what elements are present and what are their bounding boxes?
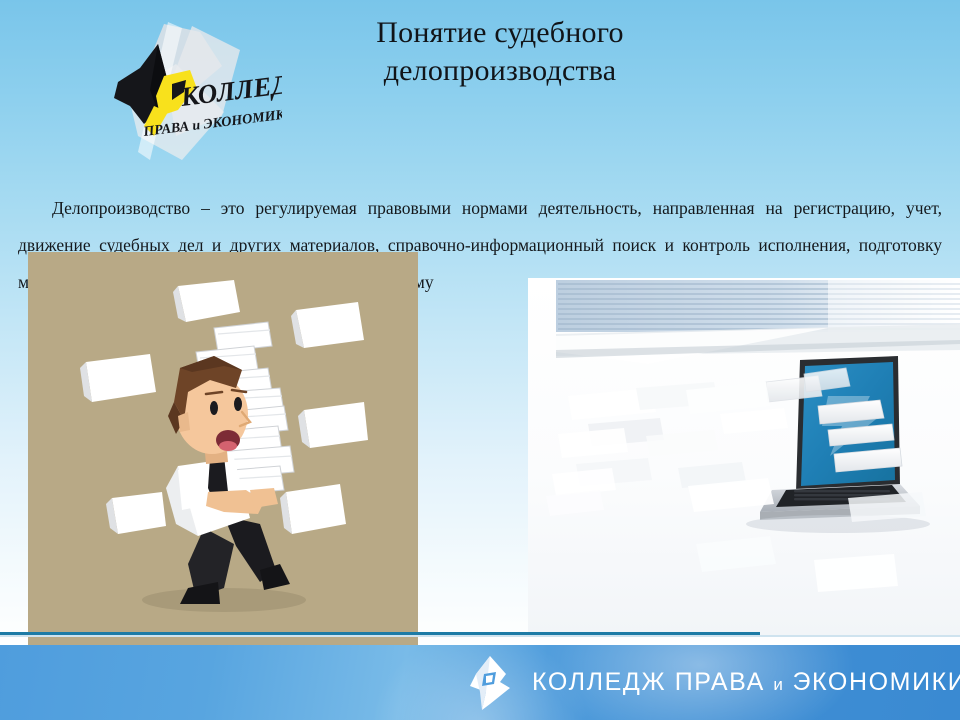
footer-brand-and: и: [773, 675, 784, 694]
footer-brand-part-2: ЭКОНОМИКИ: [784, 668, 960, 696]
slide-title-line-1: Понятие судебного: [250, 14, 750, 52]
divider-rule: [0, 632, 960, 637]
man-carrying-papers-illustration: [28, 252, 418, 645]
footer-brand: КОЛЛЕДЖ ПРАВА и ЭКОНОМИКИ: [460, 645, 960, 720]
slide-title: Понятие судебного делопроизводства: [250, 14, 750, 91]
slide-canvas: КОЛЛЕДЖ ПРАВА и ЭКОНОМИКИ Понятие судебн…: [0, 0, 960, 720]
slide-title-line-2: делопроизводства: [250, 52, 750, 90]
footer-banner: КОЛЛЕДЖ ПРАВА и ЭКОНОМИКИ: [0, 645, 960, 720]
floor-shadow: [142, 588, 306, 612]
footer-brand-text: КОЛЛЕДЖ ПРАВА и ЭКОНОМИКИ: [532, 668, 960, 697]
laptop-flying-documents-photo: [528, 278, 960, 635]
divider-segment-light: [0, 635, 960, 637]
quill-nib-icon: [460, 654, 514, 712]
footer-brand-part-1: КОЛЛЕДЖ ПРАВА: [532, 668, 773, 696]
